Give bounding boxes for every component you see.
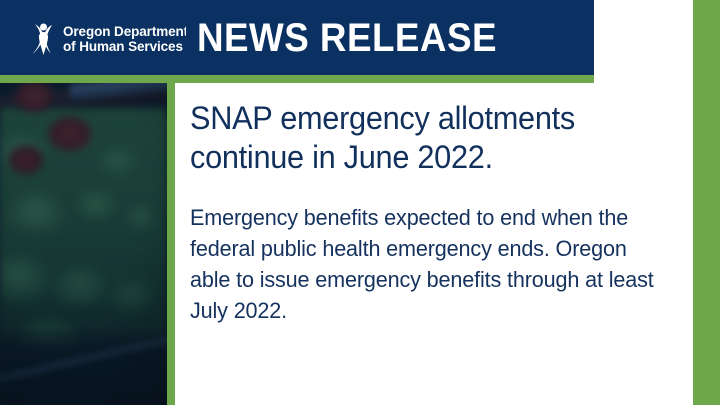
header-green-underline — [0, 75, 594, 83]
news-release-title: NEWS RELEASE — [197, 17, 497, 59]
content-area: SNAP emergency allotments continue in Ju… — [190, 99, 690, 326]
agency-logo-text: Oregon Department of Human Services — [63, 24, 188, 54]
agency-logo-line2: of Human Services — [63, 39, 188, 54]
news-release-slide: Oregon Department of Human Services NEWS… — [0, 0, 720, 405]
human-figure-logo-icon — [30, 22, 56, 56]
header-divider-rule — [186, 6, 188, 69]
headline: SNAP emergency allotments continue in Ju… — [190, 99, 670, 177]
agency-logo: Oregon Department of Human Services — [30, 22, 188, 56]
agency-logo-line1: Oregon Department — [63, 24, 188, 39]
subhead: Emergency benefits expected to end when … — [190, 202, 670, 326]
right-green-accent-bar — [693, 0, 720, 405]
